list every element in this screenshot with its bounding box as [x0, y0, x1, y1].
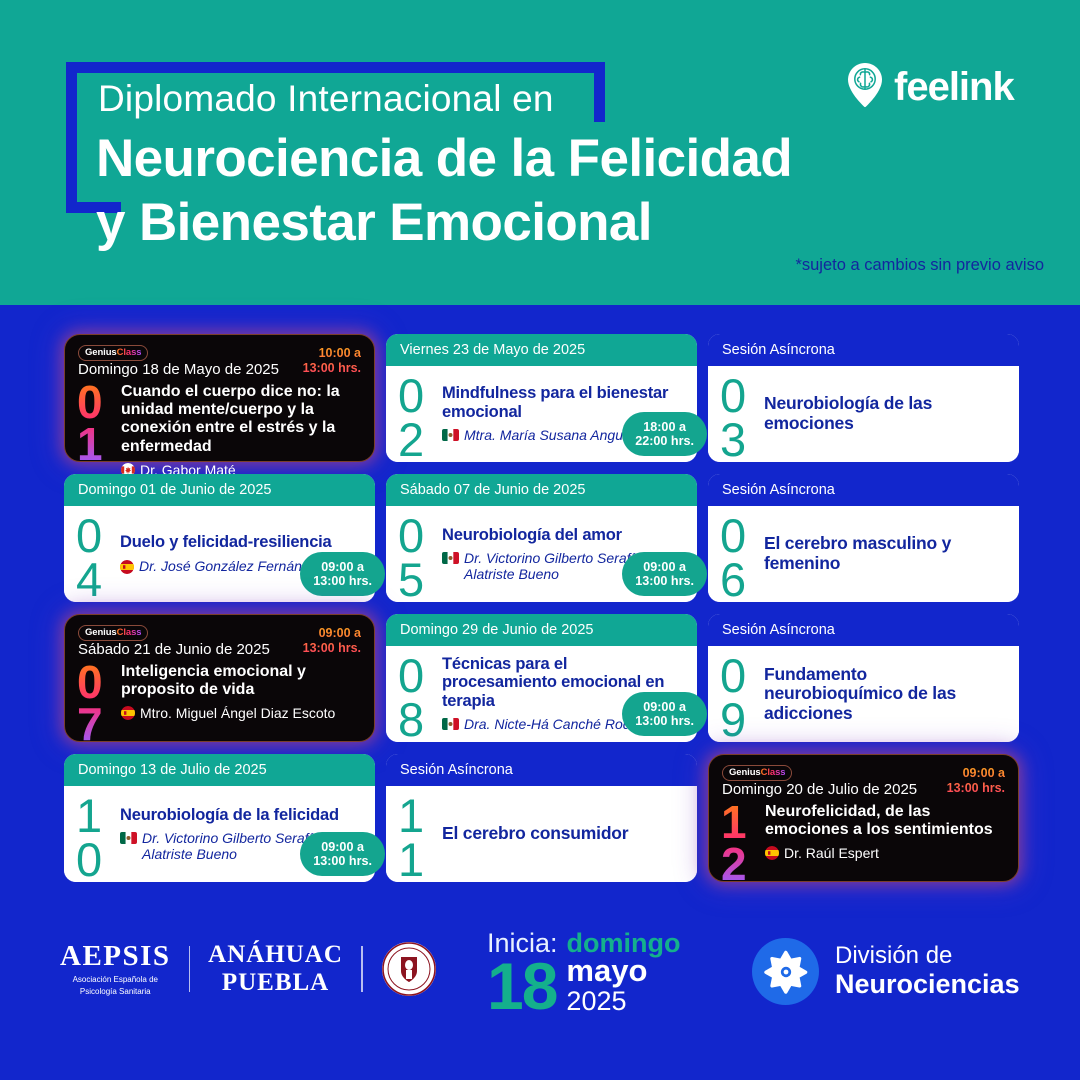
card-number-top: 0	[76, 514, 100, 558]
card-surface: Domingo 13 de Julio de 202510Neurobiolog…	[64, 754, 375, 882]
star-burst-icon	[752, 938, 819, 1005]
card-speaker-name: Dr. Raúl Espert	[784, 845, 879, 861]
card-date: Domingo 01 de Junio de 2025	[64, 474, 375, 506]
card-time: 09:00 a 13:00 hrs.	[622, 552, 707, 596]
flag-spain-icon	[121, 706, 135, 720]
partner-logos: AEPSIS Asociación Española de Psicología…	[60, 940, 437, 997]
schedule-card[interactable]: Sesión Asíncrona06El cerebro masculino y…	[708, 474, 1019, 602]
card-time: 18:00 a 22:00 hrs.	[622, 412, 707, 456]
flag-mexico-icon	[442, 718, 459, 730]
card-date: Domingo 18 de Mayo de 2025	[78, 361, 279, 378]
card-surface: Viernes 23 de Mayo de 202502Mindfulness …	[386, 334, 697, 462]
card-time: 09:00 a 13:00 hrs.	[303, 626, 361, 656]
inicia-month: mayo	[566, 955, 647, 986]
card-number: 12	[721, 801, 765, 886]
flag-mexico-icon	[442, 429, 459, 441]
card-number-top: 0	[77, 661, 121, 703]
geniusclass-badge: GeniusClass	[78, 625, 148, 641]
divider	[189, 946, 191, 992]
card-time: 09:00 a 13:00 hrs.	[300, 832, 385, 876]
card-number-bottom: 3	[720, 418, 744, 462]
flag-spain-icon	[120, 560, 134, 574]
card-date: Sábado 21 de Junio de 2025	[78, 641, 270, 658]
schedule-card[interactable]: Domingo 13 de Julio de 202510Neurobiolog…	[64, 754, 375, 882]
schedule-card[interactable]: Domingo 01 de Junio de 202504Duelo y fel…	[64, 474, 375, 602]
schedule-card[interactable]: Sesión Asíncrona09Fundamento neurobioquí…	[708, 614, 1019, 742]
card-number-top: 0	[720, 514, 744, 558]
badge-class-text: Class	[117, 627, 142, 638]
geniusclass-badge: GeniusClass	[78, 345, 148, 361]
card-surface: Sábado 07 de Junio de 202505Neurobiologí…	[386, 474, 697, 602]
card-surface: Sesión Asíncrona11El cerebro consumidor	[386, 754, 697, 882]
card-surface: GeniusClassDomingo 20 de Julio de 202509…	[708, 754, 1019, 882]
aepsis-subtitle-line2: Psicología Sanitaria	[60, 987, 171, 997]
aepsis-name: AEPSIS	[60, 940, 171, 973]
header-title-line1: Neurociencia de la Felicidad	[96, 128, 792, 189]
card-number-top: 0	[77, 381, 121, 423]
card-date: Sesión Asíncrona	[708, 474, 1019, 506]
header-disclaimer: *sujeto a cambios sin previo aviso	[795, 256, 1044, 275]
divider	[361, 946, 363, 992]
card-number: 08	[398, 652, 442, 736]
card-number-top: 0	[398, 374, 422, 418]
card-surface: Sesión Asíncrona06El cerebro masculino y…	[708, 474, 1019, 602]
card-number-top: 0	[720, 374, 744, 418]
card-date: Sesión Asíncrona	[386, 754, 697, 786]
inicia-year: 2025	[566, 986, 647, 1017]
card-speaker: Dr. Raúl Espert	[765, 845, 1006, 861]
card-speaker: Mtro. Miguel Ángel Diaz Escoto	[121, 705, 362, 721]
division-logo: División de Neurociencias	[752, 938, 1020, 1005]
card-number: 10	[76, 792, 120, 876]
universidad-autonoma-tlaxcala-seal-icon	[381, 941, 437, 997]
card-number-bottom: 1	[77, 423, 121, 465]
card-number: 05	[398, 512, 442, 596]
card-date: Sábado 07 de Junio de 2025	[386, 474, 697, 506]
badge-class-text: Class	[761, 767, 786, 778]
card-date: Viernes 23 de Mayo de 2025	[386, 334, 697, 366]
card-number-bottom: 7	[77, 703, 121, 745]
card-number-top: 1	[721, 801, 765, 843]
footer: AEPSIS Asociación Española de Psicología…	[0, 900, 1080, 1080]
flag-mexico-icon	[120, 832, 137, 844]
card-number-top: 1	[76, 794, 100, 838]
card-surface: GeniusClassDomingo 18 de Mayo de 202510:…	[64, 334, 375, 462]
card-date: Domingo 13 de Julio de 2025	[64, 754, 375, 786]
schedule-card[interactable]: GeniusClassDomingo 18 de Mayo de 202510:…	[64, 334, 375, 462]
card-speaker-name: Dr. José González Fernández	[139, 559, 324, 575]
schedule-card[interactable]: Domingo 29 de Junio de 202508Técnicas pa…	[386, 614, 697, 742]
anahuac-line1: ANÁHUAC	[208, 941, 343, 969]
card-number: 04	[76, 512, 120, 596]
card-number-bottom: 4	[76, 558, 100, 602]
feelink-logo: feelink	[845, 62, 1014, 113]
schedule-card[interactable]: Viernes 23 de Mayo de 202502Mindfulness …	[386, 334, 697, 462]
card-date: Domingo 20 de Julio de 2025	[722, 781, 917, 798]
schedule-card[interactable]: Sesión Asíncrona03Neurobiología de las e…	[708, 334, 1019, 462]
header-banner: Diplomado Internacional en Neurociencia …	[0, 0, 1080, 305]
card-date: Sesión Asíncrona	[708, 614, 1019, 646]
card-number-bottom: 5	[398, 558, 422, 602]
card-date: Sesión Asíncrona	[708, 334, 1019, 366]
card-surface: Sesión Asíncrona03Neurobiología de las e…	[708, 334, 1019, 462]
card-number: 03	[720, 372, 764, 456]
card-number: 09	[720, 652, 764, 736]
card-title: Cuando el cuerpo dice no: la unidad ment…	[121, 383, 362, 456]
card-number: 01	[77, 381, 121, 466]
schedule-card[interactable]: GeniusClassDomingo 20 de Julio de 202509…	[708, 754, 1019, 882]
feelink-pin-brain-icon	[845, 62, 885, 113]
flag-spain-icon	[765, 846, 779, 860]
card-number: 07	[77, 661, 121, 746]
card-number-bottom: 1	[398, 838, 422, 882]
badge-genius-text: Genius	[85, 627, 117, 638]
badge-class-text: Class	[117, 347, 142, 358]
schedule-card[interactable]: GeniusClassSábado 21 de Junio de 202509:…	[64, 614, 375, 742]
header-kicker: Diplomado Internacional en	[98, 78, 554, 120]
card-title: El cerebro consumidor	[442, 824, 683, 844]
card-number: 11	[398, 792, 442, 876]
card-title: Neurobiología de las emociones	[764, 394, 1005, 433]
aepsis-logo: AEPSIS Asociación Española de Psicología…	[60, 940, 171, 997]
card-title: Inteligencia emocional y proposito de vi…	[121, 663, 362, 699]
card-number-top: 0	[720, 654, 744, 698]
card-surface: Domingo 29 de Junio de 202508Técnicas pa…	[386, 614, 697, 742]
schedule-grid: GeniusClassDomingo 18 de Mayo de 202510:…	[64, 334, 1020, 882]
card-title: El cerebro masculino y femenino	[764, 534, 1005, 573]
badge-genius-text: Genius	[85, 347, 117, 358]
card-number-bottom: 2	[398, 418, 422, 462]
card-title: Fundamento neurobioquímico de las adicci…	[764, 665, 1005, 724]
inicia-day-number: 18	[487, 956, 556, 1017]
header-title-line2: y Bienestar Emocional	[96, 192, 652, 253]
card-surface: GeniusClassSábado 21 de Junio de 202509:…	[64, 614, 375, 742]
card-title: Neurobiología del amor	[442, 526, 683, 544]
badge-genius-text: Genius	[729, 767, 761, 778]
card-number: 02	[398, 372, 442, 456]
card-number-bottom: 6	[720, 558, 744, 602]
card-title: Neurobiología de la felicidad	[120, 806, 361, 824]
division-line2: Neurociencias	[835, 970, 1020, 1000]
geniusclass-badge: GeniusClass	[722, 765, 792, 781]
schedule-card[interactable]: Sábado 07 de Junio de 202505Neurobiologí…	[386, 474, 697, 602]
card-number-bottom: 8	[398, 698, 422, 742]
aepsis-subtitle-line1: Asociación Española de	[60, 975, 171, 985]
card-number: 06	[720, 512, 764, 596]
card-surface: Domingo 01 de Junio de 202504Duelo y fel…	[64, 474, 375, 602]
card-number-bottom: 9	[720, 698, 744, 742]
card-date: Domingo 29 de Junio de 2025	[386, 614, 697, 646]
card-number-bottom: 0	[76, 838, 100, 882]
anahuac-logo: ANÁHUAC PUEBLA	[208, 941, 343, 996]
card-speaker-name: Mtro. Miguel Ángel Diaz Escoto	[140, 705, 335, 721]
anahuac-line2: PUEBLA	[208, 969, 343, 997]
card-surface: Sesión Asíncrona09Fundamento neurobioquí…	[708, 614, 1019, 742]
flag-mexico-icon	[442, 552, 459, 564]
card-number-top: 0	[398, 654, 422, 698]
division-line1: División de	[835, 943, 1020, 969]
feelink-wordmark: feelink	[894, 65, 1014, 110]
start-date-block: Inicia: domingo 18 mayo 2025	[487, 928, 681, 1017]
card-title: Duelo y felicidad-resiliencia	[120, 533, 361, 551]
card-number-bottom: 2	[721, 843, 765, 885]
card-time: 09:00 a 13:00 hrs.	[300, 552, 385, 596]
schedule-card[interactable]: Sesión Asíncrona11El cerebro consumidor	[386, 754, 697, 882]
card-title: Neurofelicidad, de las emociones a los s…	[765, 803, 1006, 839]
card-number-top: 1	[398, 794, 422, 838]
card-time: 10:00 a 13:00 hrs.	[303, 346, 361, 376]
card-number-top: 0	[398, 514, 422, 558]
card-time: 09:00 a 13:00 hrs.	[947, 766, 1005, 796]
card-time: 09:00 a 13:00 hrs.	[622, 692, 707, 736]
